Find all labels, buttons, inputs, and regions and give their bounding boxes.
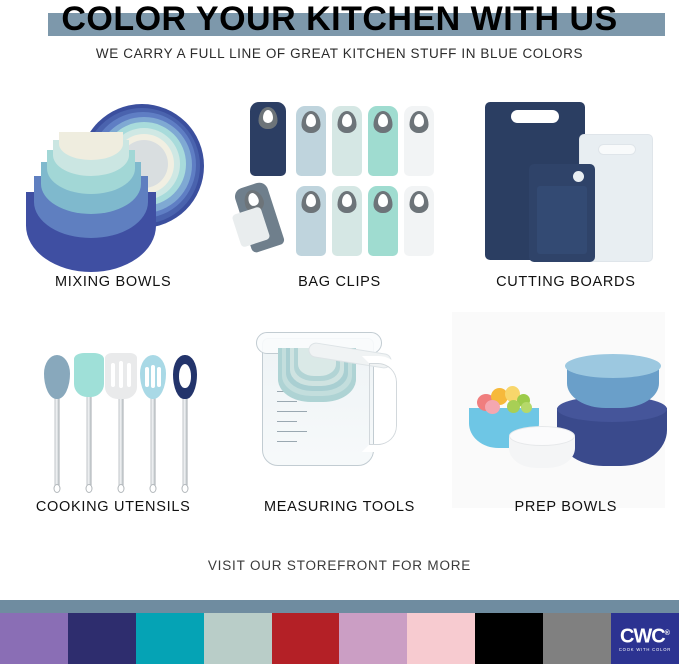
product-cell-measuring-tools[interactable]: MEASURING TOOLS xyxy=(226,312,452,515)
color-swatch-orchid xyxy=(339,613,407,664)
clip-hole-icon xyxy=(306,194,316,207)
swatch-bar-top-strip xyxy=(0,600,679,613)
mixing-bowls-illustration xyxy=(8,92,218,272)
color-swatch-brand-blue: CWC®COOK WITH COLOR xyxy=(611,613,679,664)
color-swatch-dark-navy xyxy=(68,613,136,664)
product-label: CUTTING BOARDS xyxy=(496,274,636,290)
utensil-hang-loop-icon xyxy=(182,484,189,493)
utensil-hang-loop-icon xyxy=(86,484,93,493)
product-cell-prep-bowls[interactable]: PREP BOWLS xyxy=(453,312,679,515)
product-grid-row: MIXING BOWLS xyxy=(0,92,679,290)
product-label: COOKING UTENSILS xyxy=(36,499,191,515)
page-title: COLOR YOUR KITCHEN WITH US xyxy=(0,0,679,38)
utensil-hang-loop-icon xyxy=(150,484,157,493)
color-swatch-sage xyxy=(204,613,272,664)
utensil-hang-loop-icon xyxy=(54,484,61,493)
brand-mark: CWC® xyxy=(620,624,670,647)
cooking-utensils-illustration xyxy=(8,312,218,497)
storefront-note: VISIT OUR STOREFRONT FOR MORE xyxy=(0,558,679,573)
color-swatch-black xyxy=(475,613,543,664)
clip-hole-icon xyxy=(263,110,273,123)
clip-hole-icon xyxy=(414,114,424,127)
product-grid-row: COOKING UTENSILS xyxy=(0,312,679,515)
color-swatch-bar: CWC®COOK WITH COLOR xyxy=(0,613,679,664)
utensil-hang-loop-icon xyxy=(118,484,125,493)
product-label: MEASURING TOOLS xyxy=(264,499,415,515)
product-label: PREP BOWLS xyxy=(515,499,618,515)
clip-hole-icon xyxy=(378,114,388,127)
color-swatch-red xyxy=(272,613,340,664)
brand-logo: CWC®COOK WITH COLOR xyxy=(611,613,679,664)
cutting-boards-illustration xyxy=(461,92,671,272)
product-cell-bag-clips[interactable]: BAG CLIPS xyxy=(226,92,452,290)
clip-hole-icon xyxy=(306,114,316,127)
prep-bowls-illustration xyxy=(461,312,671,497)
bag-clips-illustration xyxy=(234,92,444,272)
product-cell-cooking-utensils[interactable]: COOKING UTENSILS xyxy=(0,312,226,515)
product-grid: MIXING BOWLS xyxy=(0,92,679,515)
page-header: COLOR YOUR KITCHEN WITH US WE CARRY A FU… xyxy=(0,0,679,78)
product-label: MIXING BOWLS xyxy=(55,274,171,290)
measuring-tools-illustration xyxy=(234,312,444,497)
page-subtitle: WE CARRY A FULL LINE OF GREAT KITCHEN ST… xyxy=(0,46,679,61)
color-swatch-purple xyxy=(0,613,68,664)
product-cell-cutting-boards[interactable]: CUTTING BOARDS xyxy=(453,92,679,290)
brand-tagline: COOK WITH COLOR xyxy=(619,647,671,653)
clip-hole-icon xyxy=(414,194,424,207)
color-swatch-gray xyxy=(543,613,611,664)
clip-hole-icon xyxy=(342,194,352,207)
product-cell-mixing-bowls[interactable]: MIXING BOWLS xyxy=(0,92,226,290)
product-label: BAG CLIPS xyxy=(298,274,381,290)
color-swatch-blush-pink xyxy=(407,613,475,664)
clip-hole-icon xyxy=(342,114,352,127)
clip-hole-icon xyxy=(378,194,388,207)
color-swatch-teal xyxy=(136,613,204,664)
